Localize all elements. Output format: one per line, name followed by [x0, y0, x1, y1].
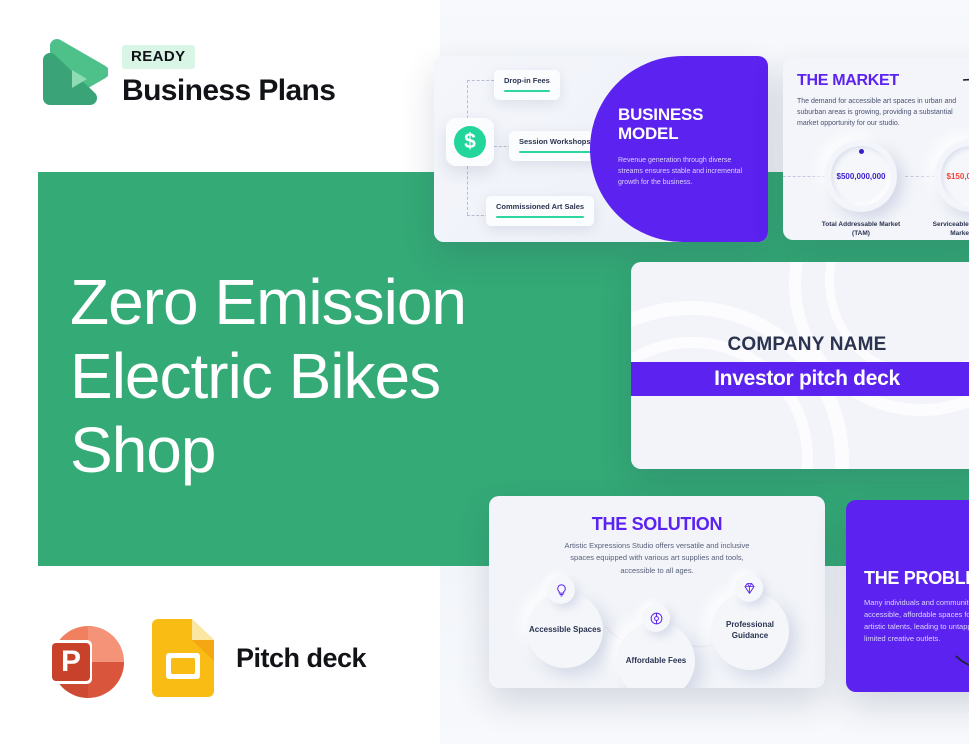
revenue-stream-label: Session Workshops: [519, 137, 591, 146]
pillar-label: Accessible Spaces: [529, 625, 601, 636]
slide-the-problem[interactable]: THE PROBLEM Many individuals and communi…: [846, 500, 969, 692]
underline-accent: [519, 151, 591, 153]
metric-caption: Total Addressable Market (TAM): [817, 220, 905, 239]
svg-text:P: P: [61, 645, 81, 678]
slide-the-solution[interactable]: THE SOLUTION Artistic Expressions Studio…: [489, 496, 825, 688]
pillar-label: Affordable Fees: [626, 656, 686, 667]
revenue-stream-label: Commissioned Art Sales: [496, 202, 584, 211]
market-dash-mid: [905, 176, 935, 177]
metric-caption: Serviceable Addressable Market (SAM): [927, 220, 969, 239]
dollar-sign-icon: $: [454, 126, 486, 158]
diamond-icon: [735, 574, 763, 602]
company-name-title: COMPANY NAME: [631, 334, 969, 356]
ready-badge: READY: [122, 45, 195, 69]
powerpoint-icon: P: [38, 612, 130, 704]
slide-company-name[interactable]: COMPANY NAME Investor pitch deck: [631, 262, 969, 469]
metric-value: $150,000,000: [935, 172, 969, 181]
curved-arrow-icon: [961, 76, 969, 110]
market-body: The demand for accessible art spaces in …: [797, 96, 969, 130]
poster-canvas: READY Business Plans Zero Emission Elect…: [0, 0, 969, 744]
slide-the-market[interactable]: THE MARKET The demand for accessible art…: [783, 58, 969, 240]
problem-body: Many individuals and communities lack ac…: [864, 597, 969, 646]
pillar-label: Professional Guidance: [711, 620, 789, 642]
slide-business-model[interactable]: $ Drop-in Fees Session Workshops Commiss…: [434, 56, 768, 242]
revenue-stream-item[interactable]: Session Workshops: [509, 131, 601, 161]
curved-arrow-icon: [954, 652, 969, 674]
market-dash-left: [783, 176, 825, 177]
investor-pitch-banner: Investor pitch deck: [631, 362, 969, 396]
revenue-stream-item[interactable]: Commissioned Art Sales: [486, 196, 594, 226]
underline-accent: [504, 90, 550, 92]
revenue-stream-label: Drop-in Fees: [504, 76, 550, 85]
business-model-right-panel: BUSINESS MODEL Revenue generation throug…: [590, 56, 768, 242]
business-model-title: BUSINESS MODEL: [618, 106, 748, 143]
google-slides-icon: [152, 619, 214, 697]
brand-logo: READY Business Plans: [40, 36, 335, 116]
underline-accent: [496, 216, 584, 218]
problem-title: THE PROBLEM: [864, 568, 969, 589]
knob-indicator-dot: [859, 149, 864, 154]
target-icon: [642, 604, 670, 632]
market-metric-sam[interactable]: $150,000,000 Serviceable Addressable Mar…: [935, 140, 969, 212]
page-title: Zero Emission Electric Bikes Shop: [70, 265, 590, 488]
market-title: THE MARKET: [797, 72, 899, 90]
revenue-hub-card: $: [446, 118, 494, 166]
market-metric-tam[interactable]: $500,000,000 Total Addressable Market (T…: [825, 140, 897, 212]
format-footer: P Pitch deck: [38, 612, 366, 704]
lightbulb-icon: [547, 576, 575, 604]
pillar-professional-guidance[interactable]: Professional Guidance: [711, 592, 789, 670]
brand-name: Business Plans: [122, 75, 335, 107]
business-model-body: Revenue generation through diverse strea…: [618, 156, 746, 189]
investor-pitch-label: Investor pitch deck: [714, 367, 900, 391]
footer-label: Pitch deck: [236, 643, 366, 674]
play-triangle-logo-icon: [40, 36, 108, 116]
revenue-stream-item[interactable]: Drop-in Fees: [494, 70, 560, 100]
metric-value: $500,000,000: [825, 172, 897, 181]
